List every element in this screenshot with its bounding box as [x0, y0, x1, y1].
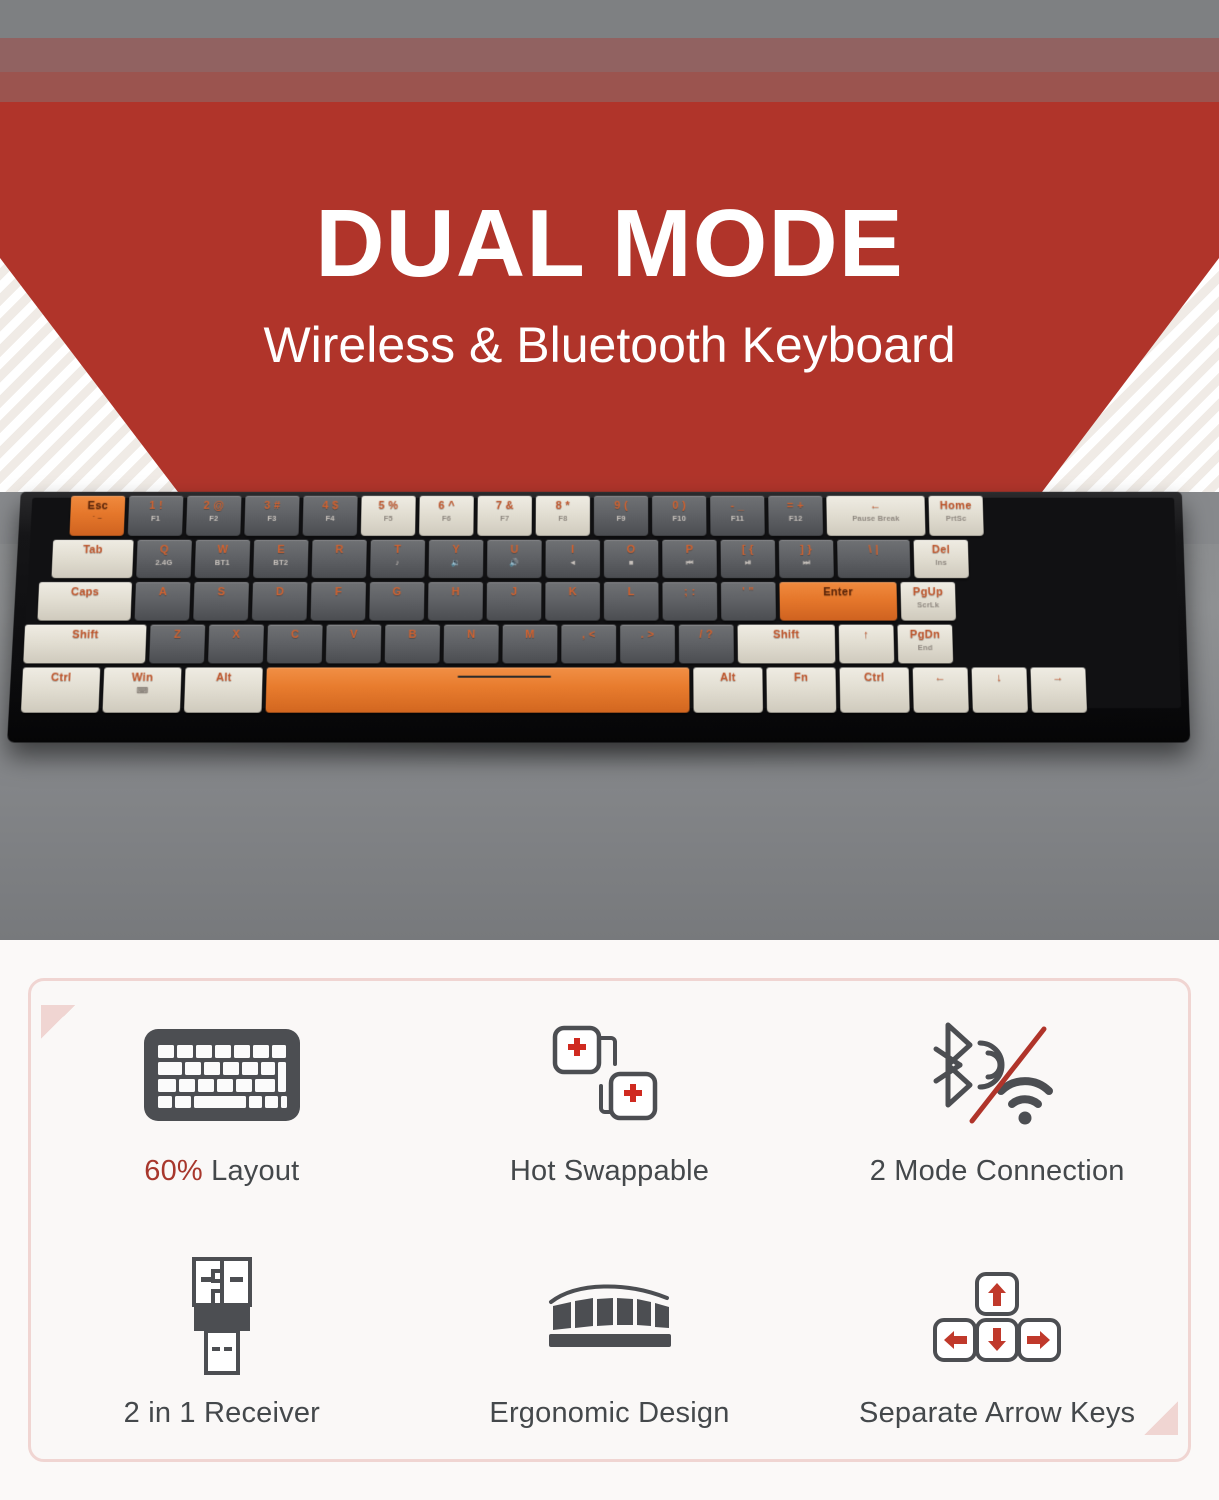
feature-label-text: Ergonomic Design [489, 1397, 729, 1429]
features-section: 60% Layout Hot Swappable 2 Mode Connecti… [0, 940, 1219, 1500]
keycap-[interactable]: ←Pause Break [826, 496, 925, 536]
keycap-legend: 9 ( [594, 500, 648, 512]
keycap-i[interactable]: I◄ [545, 540, 599, 578]
keycap-legend: O [604, 544, 658, 556]
keycap-legend: ↑ [839, 629, 894, 641]
keycap-legend: N [444, 629, 499, 641]
keycap-sublegend: F11 [710, 514, 764, 523]
keycap-sublegend: F12 [768, 514, 822, 523]
keycap-a[interactable]: A [135, 582, 191, 620]
keycap-sublegend: 2.4G [137, 558, 192, 567]
keycap-[interactable]: → [1030, 667, 1087, 712]
keycap-[interactable]: [ {⏯ [721, 540, 776, 578]
keycap-legend: Tab [52, 544, 133, 556]
keycap-legend: Fn [766, 672, 835, 684]
keycap-sublegend: F10 [652, 514, 706, 523]
keycap-legend: 1 ! [129, 500, 184, 512]
keycap-legend: Q [137, 544, 192, 556]
keycap-b[interactable]: B [385, 625, 440, 664]
keycap-h[interactable]: H [428, 582, 483, 620]
keycap-sublegend: F4 [303, 514, 357, 523]
keycap-legend: , < [561, 629, 616, 641]
keycap-sublegend: F5 [361, 514, 415, 523]
keycap-legend: Alt [693, 672, 762, 684]
keycap-legend: I [546, 544, 600, 556]
keycap-alt[interactable]: Alt [693, 667, 763, 712]
keycap-legend: Y [429, 544, 483, 556]
keycap-[interactable]: / ? [679, 625, 734, 664]
keycap-shift[interactable]: Shift [23, 625, 146, 664]
keycap-del[interactable]: DelIns [914, 540, 969, 578]
bluetooth-wifi-icon [922, 1011, 1072, 1139]
keycap-legend: ← [913, 672, 968, 684]
keycap-sublegend: BT2 [253, 558, 308, 567]
keyboard-product-image: Esc` ~1 !F12 @F23 #F34 $F45 %F56 ^F67 &F… [10, 478, 1190, 778]
keycap-[interactable]: ↓ [972, 667, 1028, 712]
keycap-sublegend: ♪ [370, 558, 425, 567]
keycap-legend: M [503, 629, 558, 641]
keycap-legend: J [487, 586, 542, 598]
keycap-legend: Win [104, 672, 182, 684]
keycap-[interactable]: = +F12 [768, 496, 823, 536]
keycap-legend: ↓ [972, 672, 1027, 684]
hero-text-block: DUAL MODE Wireless & Bluetooth Keyboard [0, 0, 1219, 373]
feature-label-text: Hot Swappable [510, 1155, 709, 1187]
keycap-sublegend: F3 [245, 514, 299, 523]
keycap-legend: PgDn [898, 629, 953, 641]
keycap-legend: ; : [662, 586, 717, 598]
keycap-legend: U [487, 544, 541, 556]
keycap-legend: Ctrl [22, 672, 100, 684]
keycap-tab[interactable]: Tab [51, 540, 133, 578]
keycap-g[interactable]: G [369, 582, 424, 620]
keycap-legend: PgUp [901, 586, 956, 598]
keycap-sublegend: ⏯ [721, 558, 775, 568]
keycap-alt[interactable]: Alt [184, 667, 263, 712]
features-grid: 60% Layout Hot Swappable 2 Mode Connecti… [28, 978, 1191, 1462]
keycap-y[interactable]: Y🔉 [429, 540, 484, 578]
hero-subtitle: Wireless & Bluetooth Keyboard [0, 318, 1219, 373]
keycap-8[interactable]: 8 *F8 [536, 496, 590, 536]
feature-cell-3: 2 Mode Connection [803, 978, 1191, 1220]
keycap-4[interactable]: 4 $F4 [303, 496, 358, 536]
keycap-layout: Esc` ~1 !F12 @F23 #F34 $F45 %F56 ^F67 &F… [17, 478, 1199, 711]
keycap-x[interactable]: X [208, 625, 264, 664]
feature-label: 2 in 1 Receiver [124, 1397, 320, 1430]
keycap-legend: Esc [71, 500, 126, 512]
keycap-legend: Shift [738, 629, 835, 641]
keycap-s[interactable]: S [193, 582, 249, 620]
keycap-legend: Del [914, 544, 969, 556]
keycap-0[interactable]: 0 )F10 [652, 496, 706, 536]
keycap-legend: B [385, 629, 440, 641]
keycap-legend: 6 ^ [419, 500, 473, 512]
keycap-sublegend: PrtSc [929, 514, 983, 523]
keycap-esc[interactable]: Esc` ~ [69, 496, 125, 536]
keycap-legend: Caps [38, 586, 131, 598]
keycap-legend: A [135, 586, 190, 598]
feature-cell-4: 2 in 1 Receiver [28, 1220, 416, 1462]
keycap-sublegend: F1 [128, 514, 183, 523]
keycap-sublegend: ScrLk [901, 600, 956, 609]
keycap-sublegend: F8 [536, 514, 590, 523]
keycap-fn[interactable]: Fn [766, 667, 836, 712]
keycap-win[interactable]: Win⌨ [102, 667, 181, 712]
keycap-o[interactable]: O■ [604, 540, 658, 578]
keycap-sublegend: ⌨ [103, 686, 181, 695]
page-title: DUAL MODE [0, 196, 1219, 292]
keycap-k[interactable]: K [545, 582, 600, 620]
keycap-sublegend: Pause Break [827, 514, 926, 523]
keycap-[interactable]: . > [620, 625, 675, 664]
feature-label-text: 2 Mode Connection [870, 1155, 1125, 1187]
keycap-legend: ] } [779, 544, 834, 556]
keycap-f[interactable]: F [311, 582, 366, 620]
keycap-legend: 3 # [245, 500, 299, 512]
keycap-p[interactable]: P⏮ [662, 540, 717, 578]
keycap-q[interactable]: Q2.4G [136, 540, 192, 578]
keycap-[interactable]: \ | [837, 540, 910, 578]
keycap-sublegend: F2 [186, 514, 240, 523]
keycap-sublegend: ◄ [546, 558, 600, 567]
keycap-legend: 2 @ [187, 500, 242, 512]
keycap-legend: Z [150, 629, 205, 641]
hot-swap-icon [549, 1011, 669, 1139]
keycap-sublegend: F6 [419, 514, 473, 523]
feature-cell-6: Separate Arrow Keys [803, 1220, 1191, 1462]
keycap-legend: K [545, 586, 600, 598]
keycap-pgup[interactable]: PgUpScrLk [900, 582, 956, 620]
keycap-sublegend: ⏮ [662, 558, 716, 568]
keycap-2[interactable]: 2 @F2 [186, 496, 241, 536]
keycap-legend: V [326, 629, 381, 641]
keycap-7[interactable]: 7 &F7 [477, 496, 532, 536]
keycap-v[interactable]: V [326, 625, 382, 664]
keycap-sublegend: ⏭ [779, 558, 834, 568]
keycap-legend: X [209, 629, 264, 641]
keycap-legend: Home [929, 500, 983, 512]
keycap-j[interactable]: J [487, 582, 542, 620]
keycap-c[interactable]: C [267, 625, 323, 664]
keycap-[interactable]: , < [561, 625, 616, 664]
keycap-legend: 4 $ [303, 500, 357, 512]
keycap-home[interactable]: HomePrtSc [928, 496, 983, 536]
keycap-pgdn[interactable]: PgDnEnd [897, 625, 953, 664]
keycap-legend: 5 % [361, 500, 415, 512]
keycap-sublegend: BT1 [195, 558, 250, 567]
keycap-legend: \ | [837, 544, 910, 556]
keycap-1[interactable]: 1 !F1 [128, 496, 184, 536]
feature-label: Separate Arrow Keys [859, 1397, 1135, 1430]
keycap-legend: W [195, 544, 250, 556]
keycap-sublegend: ` ~ [70, 514, 125, 523]
keycap-sublegend: End [898, 643, 953, 652]
feature-label-text: Separate Arrow Keys [859, 1397, 1135, 1429]
keycap-legend: ' " [721, 586, 776, 598]
keycap-[interactable]: ' " [721, 582, 776, 620]
product-infographic: DUAL MODE Wireless & Bluetooth Keyboard … [0, 0, 1219, 1500]
keycap-legend: H [428, 586, 483, 598]
keycap-legend: T [370, 544, 425, 556]
keyboard-60-icon [142, 1011, 302, 1139]
keycap-5[interactable]: 5 %F5 [361, 496, 416, 536]
keycap-[interactable]: ↑ [839, 625, 895, 664]
keycap-legend: ← [826, 500, 924, 512]
usb-receiver-icon [180, 1253, 264, 1381]
feature-label: Hot Swappable [510, 1155, 709, 1188]
keycap-legend: Enter [780, 586, 897, 598]
keycap-ctrl[interactable]: Ctrl [840, 667, 910, 712]
keycap-sublegend: 🔉 [429, 558, 483, 567]
keycap-space[interactable] [266, 667, 690, 712]
keycap-w[interactable]: WBT1 [195, 540, 251, 578]
keycap-3[interactable]: 3 #F3 [244, 496, 299, 536]
keycap-ctrl[interactable]: Ctrl [21, 667, 100, 712]
keycap-sublegend: Ins [914, 558, 969, 567]
feature-label: 2 Mode Connection [870, 1155, 1125, 1188]
hero-section: DUAL MODE Wireless & Bluetooth Keyboard … [0, 0, 1219, 940]
keycap-legend: R [312, 544, 367, 556]
keycap-sublegend: 🔊 [487, 558, 541, 567]
keycap-caps[interactable]: Caps [37, 582, 132, 620]
ergonomic-icon [543, 1253, 675, 1381]
keycap-n[interactable]: N [444, 625, 499, 664]
keycap-legend: P [662, 544, 716, 556]
keycap-legend: C [268, 629, 323, 641]
keycap-legend: D [253, 586, 308, 598]
keycap-legend: Alt [185, 672, 263, 684]
keycap-legend: Ctrl [840, 672, 909, 684]
feature-label: Ergonomic Design [489, 1397, 729, 1430]
keycap-legend: S [194, 586, 249, 598]
keycap-legend: . > [620, 629, 675, 641]
keycap-m[interactable]: M [502, 625, 557, 664]
keycap-[interactable]: ] }⏭ [779, 540, 834, 578]
keycap-legend: G [370, 586, 425, 598]
spacebar-marker [458, 676, 552, 678]
keycap-legend: F [311, 586, 366, 598]
feature-label: 60% Layout [144, 1155, 299, 1188]
arrow-keys-icon [932, 1253, 1062, 1381]
feature-label-highlight: 60% [144, 1155, 203, 1187]
keycap-legend: / ? [679, 629, 734, 641]
keycap-enter[interactable]: Enter [779, 582, 897, 620]
keycap-legend: 0 ) [652, 500, 706, 512]
keycap-[interactable]: ; : [662, 582, 717, 620]
feature-label-text: Layout [203, 1155, 300, 1187]
keycap-legend: → [1031, 672, 1086, 684]
keycap-r[interactable]: R [312, 540, 367, 578]
keycap-9[interactable]: 9 (F9 [594, 496, 648, 536]
keycap-shift[interactable]: Shift [738, 625, 836, 664]
keycap-sublegend: ■ [604, 558, 658, 567]
keycap-legend: L [604, 586, 659, 598]
keycap-d[interactable]: D [252, 582, 308, 620]
feature-cell-2: Hot Swappable [416, 978, 804, 1220]
keycap-l[interactable]: L [604, 582, 659, 620]
keycap-legend: [ { [721, 544, 775, 556]
keycap-e[interactable]: EBT2 [253, 540, 308, 578]
keycap-legend: Shift [24, 629, 146, 641]
feature-cell-5: Ergonomic Design [416, 1220, 804, 1462]
feature-label-text: 2 in 1 Receiver [124, 1397, 320, 1429]
keycap-sublegend: F7 [478, 514, 532, 523]
feature-cell-1: 60% Layout [28, 978, 416, 1220]
keycap-u[interactable]: U🔊 [487, 540, 542, 578]
keycap-6[interactable]: 6 ^F6 [419, 496, 474, 536]
keycap-legend: 7 & [478, 500, 532, 512]
keycap-legend: E [254, 544, 309, 556]
keycap-[interactable]: - _F11 [710, 496, 765, 536]
keycap-[interactable]: ← [913, 667, 969, 712]
keycap-z[interactable]: Z [149, 625, 205, 664]
keycap-t[interactable]: T♪ [370, 540, 425, 578]
keycap-legend: 8 * [536, 500, 590, 512]
keycap-legend: - _ [710, 500, 764, 512]
keycap-legend: = + [768, 500, 822, 512]
keycap-sublegend: F9 [594, 514, 648, 523]
